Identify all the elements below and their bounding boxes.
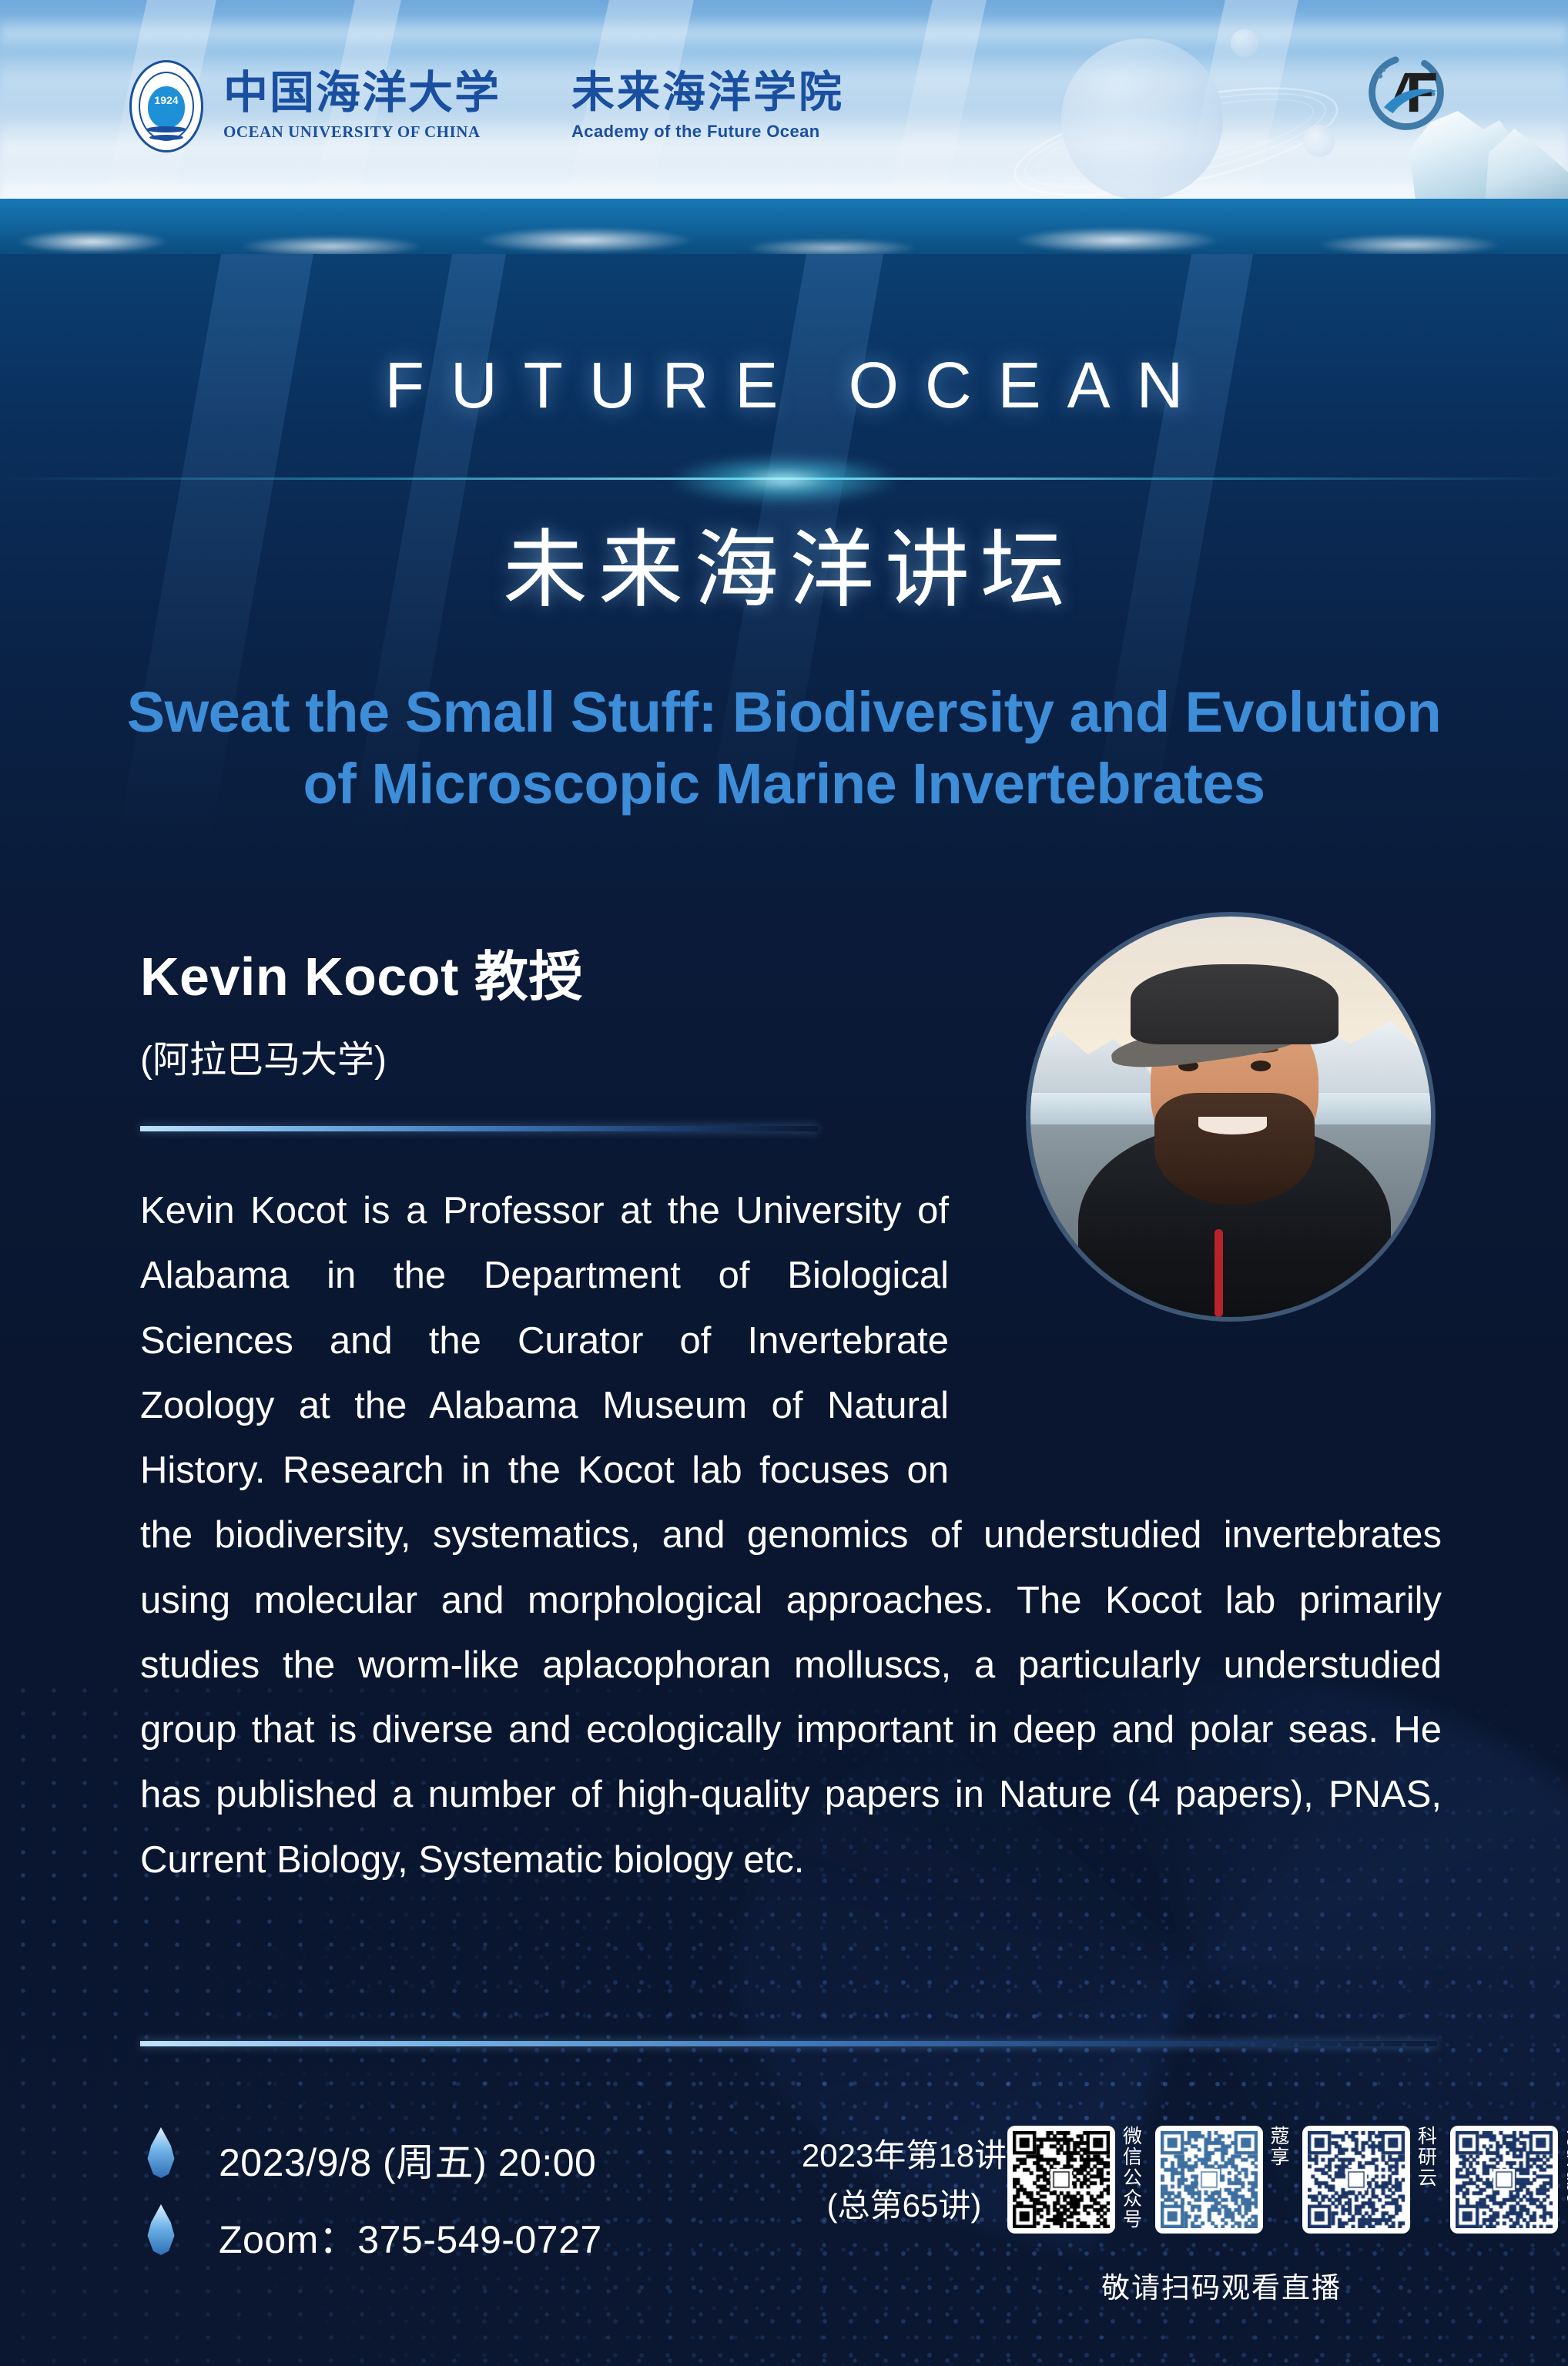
divider-bottom xyxy=(140,2041,1437,2046)
moon-icon xyxy=(1303,125,1335,157)
scan-tip-text: 敬请扫码观看直播 xyxy=(1101,2264,1342,2306)
lecture-title-line-2: of Microscopic Marine Invertebrates xyxy=(54,748,1514,819)
qr-code-row: 微信公众号蔻享科研云YouTube xyxy=(1007,2126,1568,2234)
seal-wave-icon xyxy=(149,135,183,140)
qr-code-image[interactable] xyxy=(1155,2126,1263,2234)
qr-code-label: 科研云 xyxy=(1415,2126,1436,2234)
brand-title-en: FUTURE OCEAN xyxy=(0,348,1568,423)
portrait-eye-right xyxy=(1251,1061,1271,1071)
event-datetime: 2023/9/8 (周五) 20:00 xyxy=(219,2132,596,2187)
lecture-title-line-1: Sweat the Small Stuff: Biodiversity and … xyxy=(54,676,1514,748)
seal-wave-icon xyxy=(146,126,186,132)
qr-code-cell[interactable]: YouTube xyxy=(1450,2126,1568,2234)
zoom-meeting-id: Zoom：375-549-0727 xyxy=(219,2209,602,2264)
qr-code-cell[interactable]: 科研云 xyxy=(1302,2126,1436,2234)
speaker-portrait-avatar xyxy=(1030,917,1431,1317)
af-brand-logo-icon xyxy=(1362,48,1451,137)
university-name-block: 中国海洋大学 OCEAN UNIVERSITY OF CHINA xyxy=(223,71,501,142)
lecture-title: Sweat the Small Stuff: Biodiversity and … xyxy=(54,676,1514,819)
qr-code-image[interactable] xyxy=(1302,2126,1410,2234)
planet-sphere-icon xyxy=(1061,39,1223,200)
portrait-beard xyxy=(1154,1093,1315,1205)
speaker-name: Kevin Kocot 教授 xyxy=(140,933,583,1011)
university-name-cn: 中国海洋大学 xyxy=(223,71,501,116)
lecture-number-block: 2023年第18讲 (总第65讲) xyxy=(789,2130,1020,2230)
qr-code-image[interactable] xyxy=(1007,2126,1115,2234)
qr-code-label: 蔻享 xyxy=(1268,2126,1289,2234)
glow-core xyxy=(668,454,900,505)
poster-root: 1924 中国海洋大学 OCEAN UNIVERSITY OF CHINA 未来… xyxy=(0,0,1568,2366)
divider-top xyxy=(140,1126,818,1131)
qr-code-image[interactable] xyxy=(1450,2126,1558,2234)
moon-icon xyxy=(1231,29,1258,57)
portrait-jacket-zipper xyxy=(1215,1229,1223,1317)
qr-code-label: YouTube xyxy=(1563,2126,1568,2234)
planet-decoration xyxy=(1024,8,1355,216)
lecture-number-total: (总第65讲) xyxy=(789,2180,1020,2230)
qr-code-cell[interactable]: 蔻享 xyxy=(1155,2126,1289,2234)
qr-code-label: 微信公众号 xyxy=(1120,2126,1141,2234)
academy-name-cn: 未来海洋学院 xyxy=(571,71,844,114)
brand-title-cn: 未来海洋讲坛 xyxy=(0,501,1568,624)
university-name-en: OCEAN UNIVERSITY OF CHINA xyxy=(223,122,501,142)
qr-code-cell[interactable]: 微信公众号 xyxy=(1007,2126,1141,2234)
speaker-affiliation: (阿拉巴马大学) xyxy=(140,1029,387,1083)
academy-name-block: 未来海洋学院 Academy of the Future Ocean xyxy=(571,71,844,142)
ouc-seal-icon: 1924 xyxy=(129,60,203,152)
academy-name-en: Academy of the Future Ocean xyxy=(571,122,844,142)
seal-year-label: 1924 xyxy=(129,94,203,106)
header-logo-row: 1924 中国海洋大学 OCEAN UNIVERSITY OF CHINA 未来… xyxy=(129,60,844,152)
seal-blue-shape xyxy=(148,86,185,128)
lecture-number-year: 2023年第18讲 xyxy=(789,2130,1020,2180)
portrait-cap xyxy=(1131,964,1338,1044)
